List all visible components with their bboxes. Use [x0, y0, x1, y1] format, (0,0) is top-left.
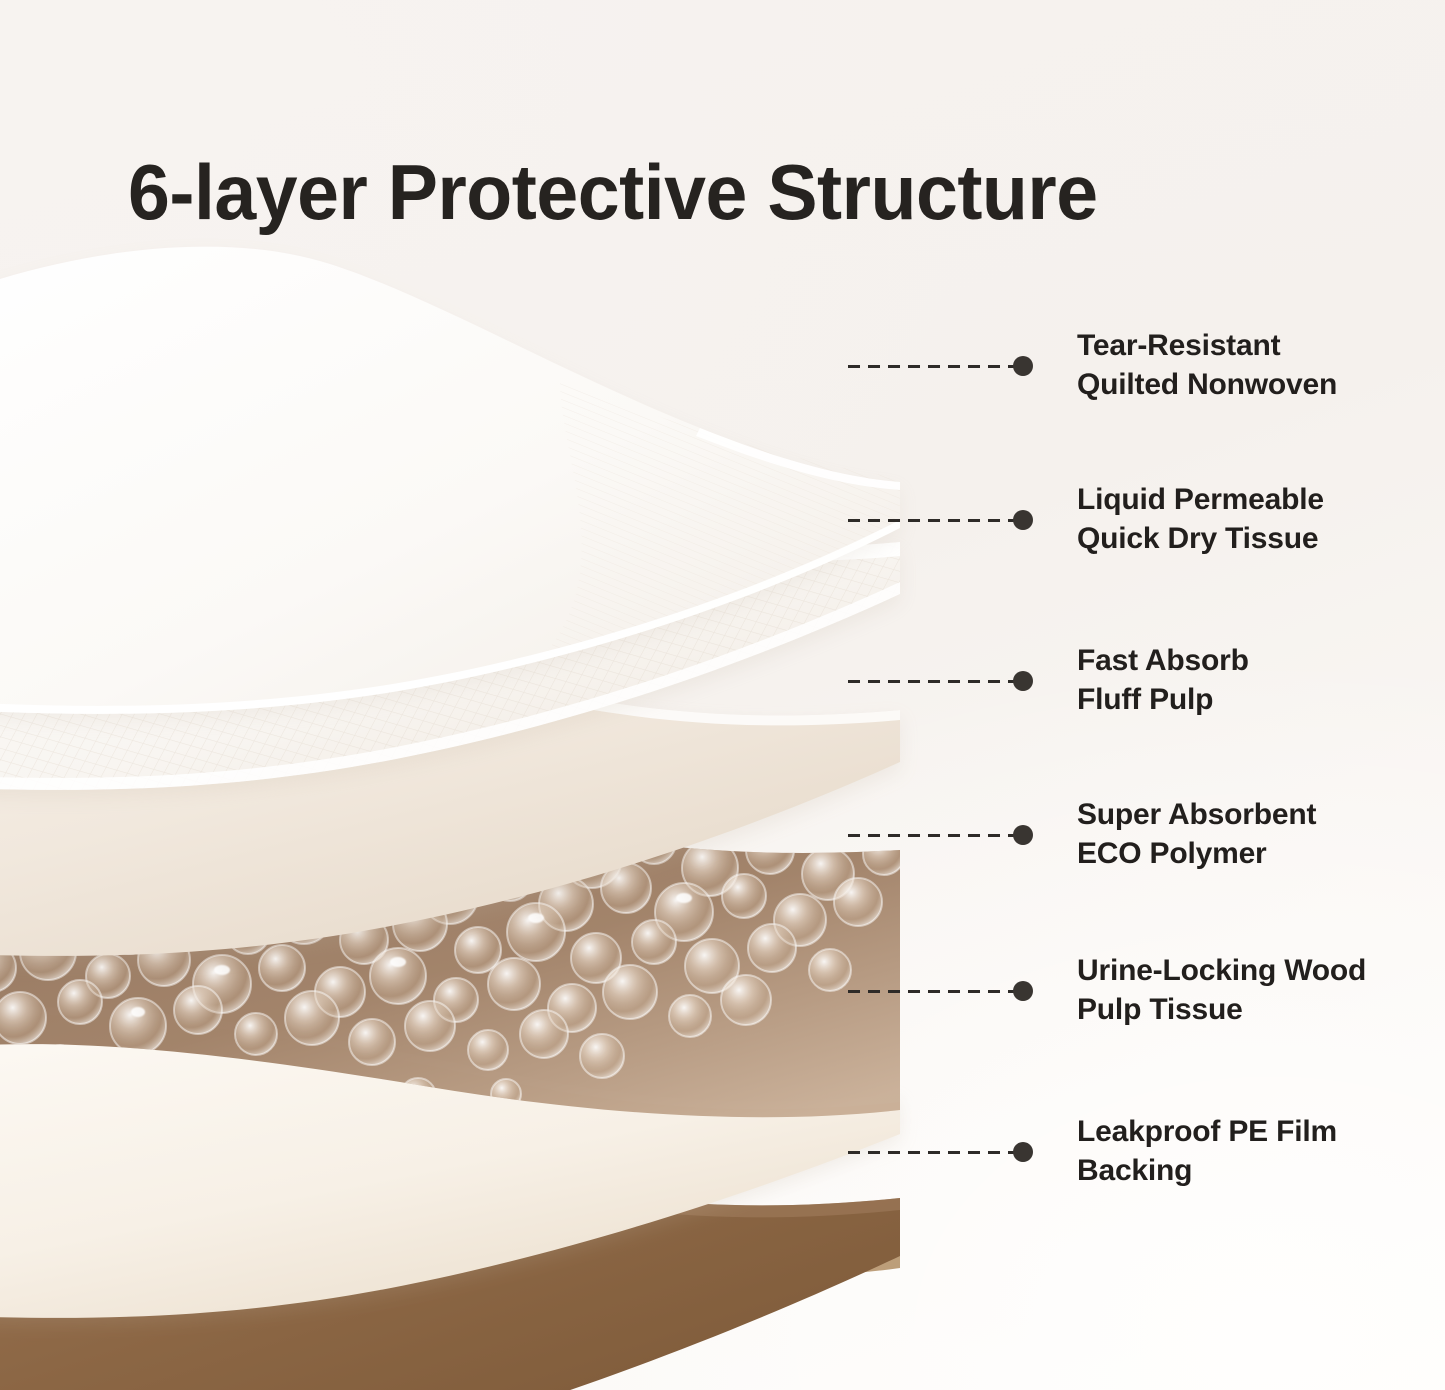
callout-label-layer-6: Leakproof PE Film Backing: [1077, 1112, 1407, 1190]
leader-line-icon: [848, 365, 1014, 368]
callout-label-layer-1: Tear-Resistant Quilted Nonwoven: [1077, 326, 1407, 404]
leader-dot-icon: [1013, 825, 1033, 845]
leader-line-icon: [848, 680, 1014, 683]
leader-dot-icon: [1013, 510, 1033, 530]
callout-label-layer-5: Urine-Locking Wood Pulp Tissue: [1077, 951, 1407, 1029]
callout-label-layer-3: Fast Absorb Fluff Pulp: [1077, 641, 1407, 719]
leader-line-icon: [848, 519, 1014, 522]
leader-dot-icon: [1013, 1142, 1033, 1162]
leader-dot-icon: [1013, 356, 1033, 376]
exploded-layer-stack-illustration: [0, 210, 960, 1390]
layer-structure-infographic: 6-layer Protective Structure: [0, 0, 1445, 1390]
leader-line-icon: [848, 834, 1014, 837]
leader-dot-icon: [1013, 671, 1033, 691]
leader-line-icon: [848, 990, 1014, 993]
leader-dot-icon: [1013, 981, 1033, 1001]
callout-label-layer-2: Liquid Permeable Quick Dry Tissue: [1077, 480, 1407, 558]
callout-label-layer-4: Super Absorbent ECO Polymer: [1077, 795, 1407, 873]
leader-line-icon: [848, 1151, 1014, 1154]
